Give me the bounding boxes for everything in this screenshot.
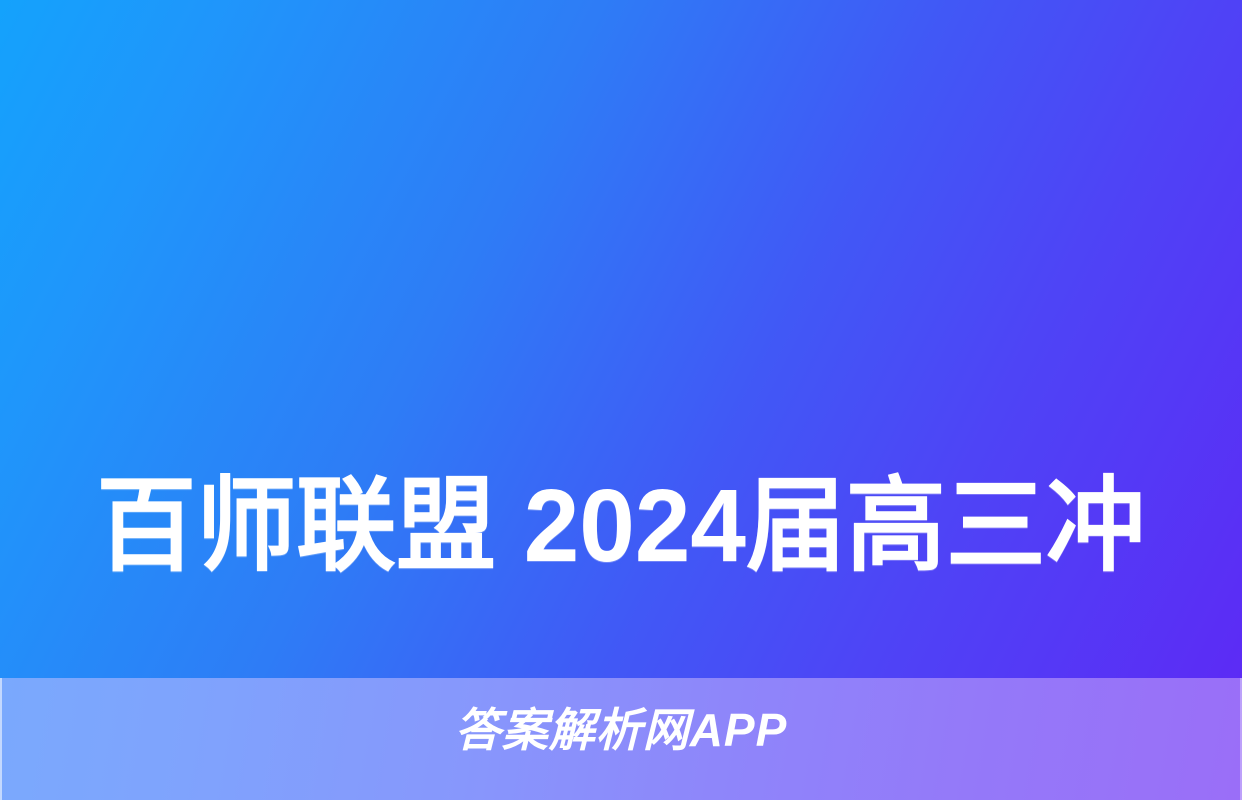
page-title-line-1: 百师联盟 2024届高三冲 <box>87 454 1156 597</box>
app-watermark-label: 答案解析网APP <box>0 700 1242 760</box>
poster-canvas: 百师联盟 2024届高三冲 刺卷(四)4 湖南卷历史答 案 答案解析网APP <box>0 0 1242 800</box>
